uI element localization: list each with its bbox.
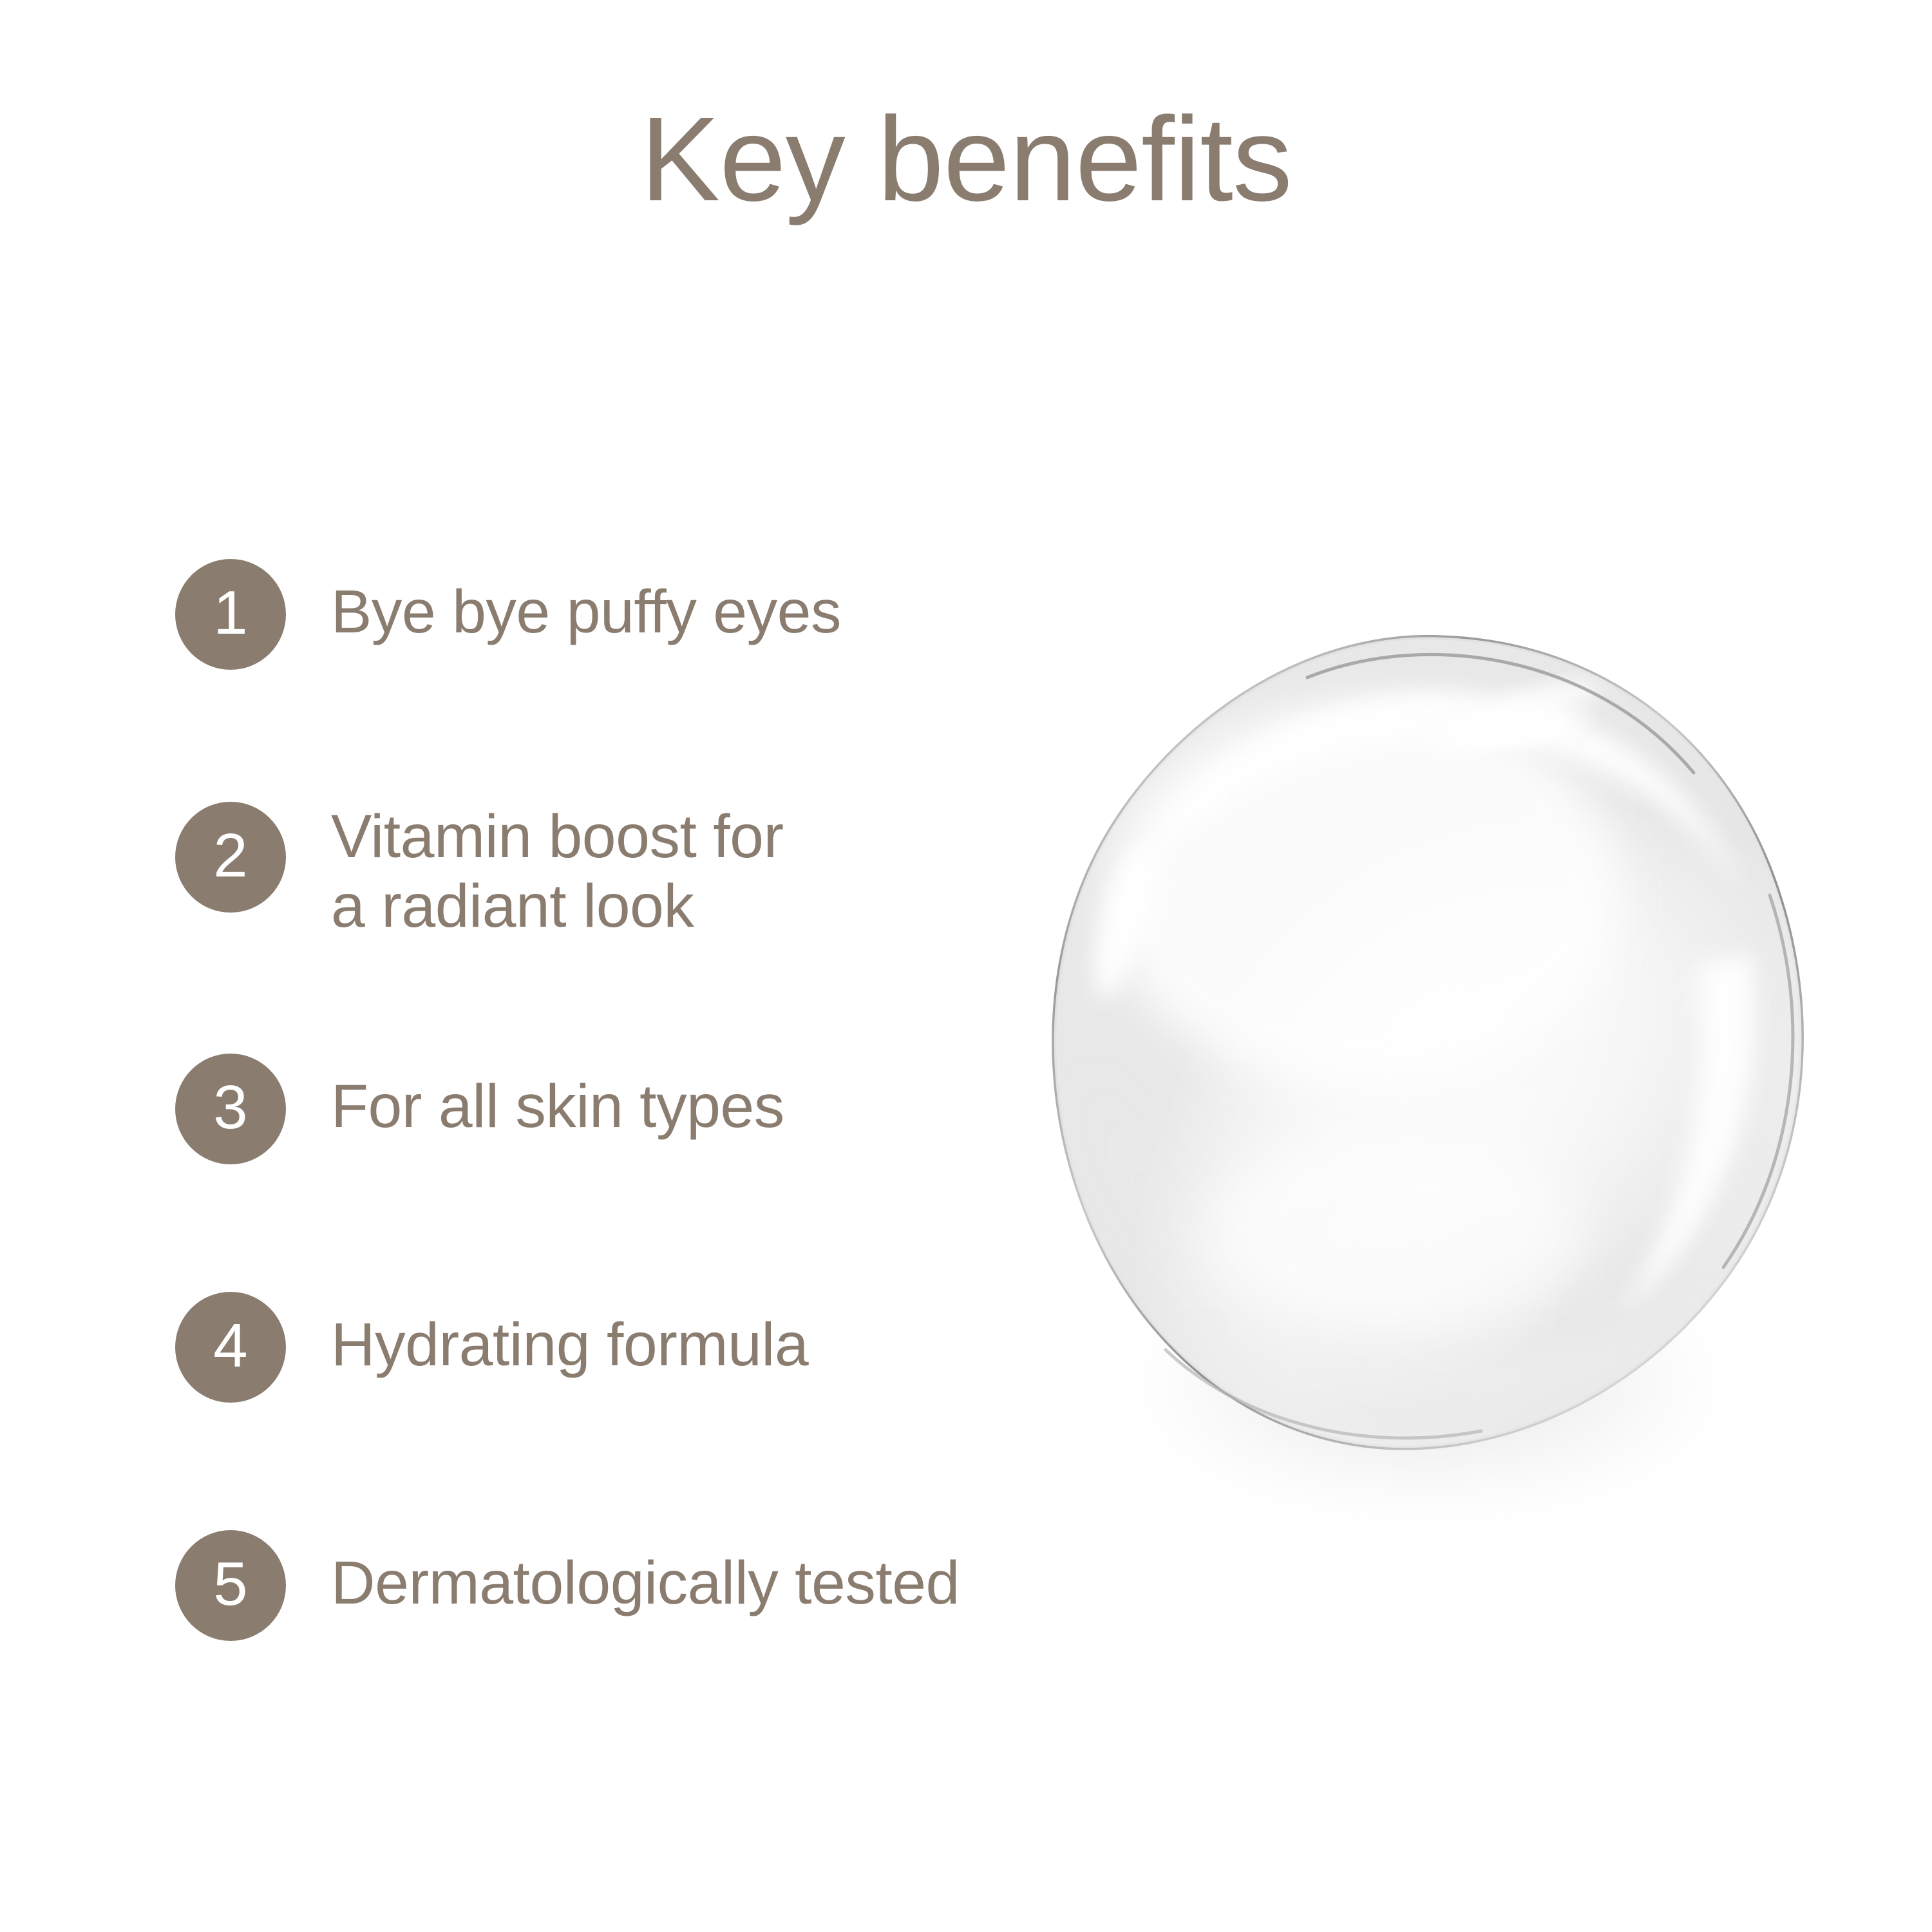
gel-droplet-image xyxy=(1030,618,1829,1494)
benefit-number-badge-2: 2 xyxy=(175,802,286,913)
key-benefits-page: Key benefits 1 Bye bye puffy eyes 2 Vita… xyxy=(0,0,1932,1932)
benefit-item-2: 2 Vitamin boost for a radiant look xyxy=(175,802,1045,941)
benefit-label-1: Bye bye puffy eyes xyxy=(331,559,1045,648)
benefit-number-badge-5: 5 xyxy=(175,1530,286,1641)
benefit-item-3: 3 For all skin types xyxy=(175,1054,1045,1164)
benefit-number-badge-1: 1 xyxy=(175,559,286,670)
page-title: Key benefits xyxy=(0,97,1932,222)
benefit-label-5: Dermatologically tested xyxy=(331,1530,1045,1619)
benefit-label-4: Hydrating formula xyxy=(331,1292,1045,1381)
benefit-number-badge-3: 3 xyxy=(175,1054,286,1164)
benefit-item-5: 5 Dermatologically tested xyxy=(175,1530,1045,1641)
droplet-inner-sheen xyxy=(1108,702,1623,1088)
gel-droplet-icon xyxy=(1030,618,1829,1494)
benefit-number-badge-4: 4 xyxy=(175,1292,286,1403)
benefit-item-4: 4 Hydrating formula xyxy=(175,1292,1045,1403)
benefit-item-1: 1 Bye bye puffy eyes xyxy=(175,559,1045,670)
benefit-label-2: Vitamin boost for a radiant look xyxy=(331,802,1045,941)
droplet-glow-lower-center xyxy=(1198,1140,1584,1333)
benefit-label-3: For all skin types xyxy=(331,1054,1045,1142)
